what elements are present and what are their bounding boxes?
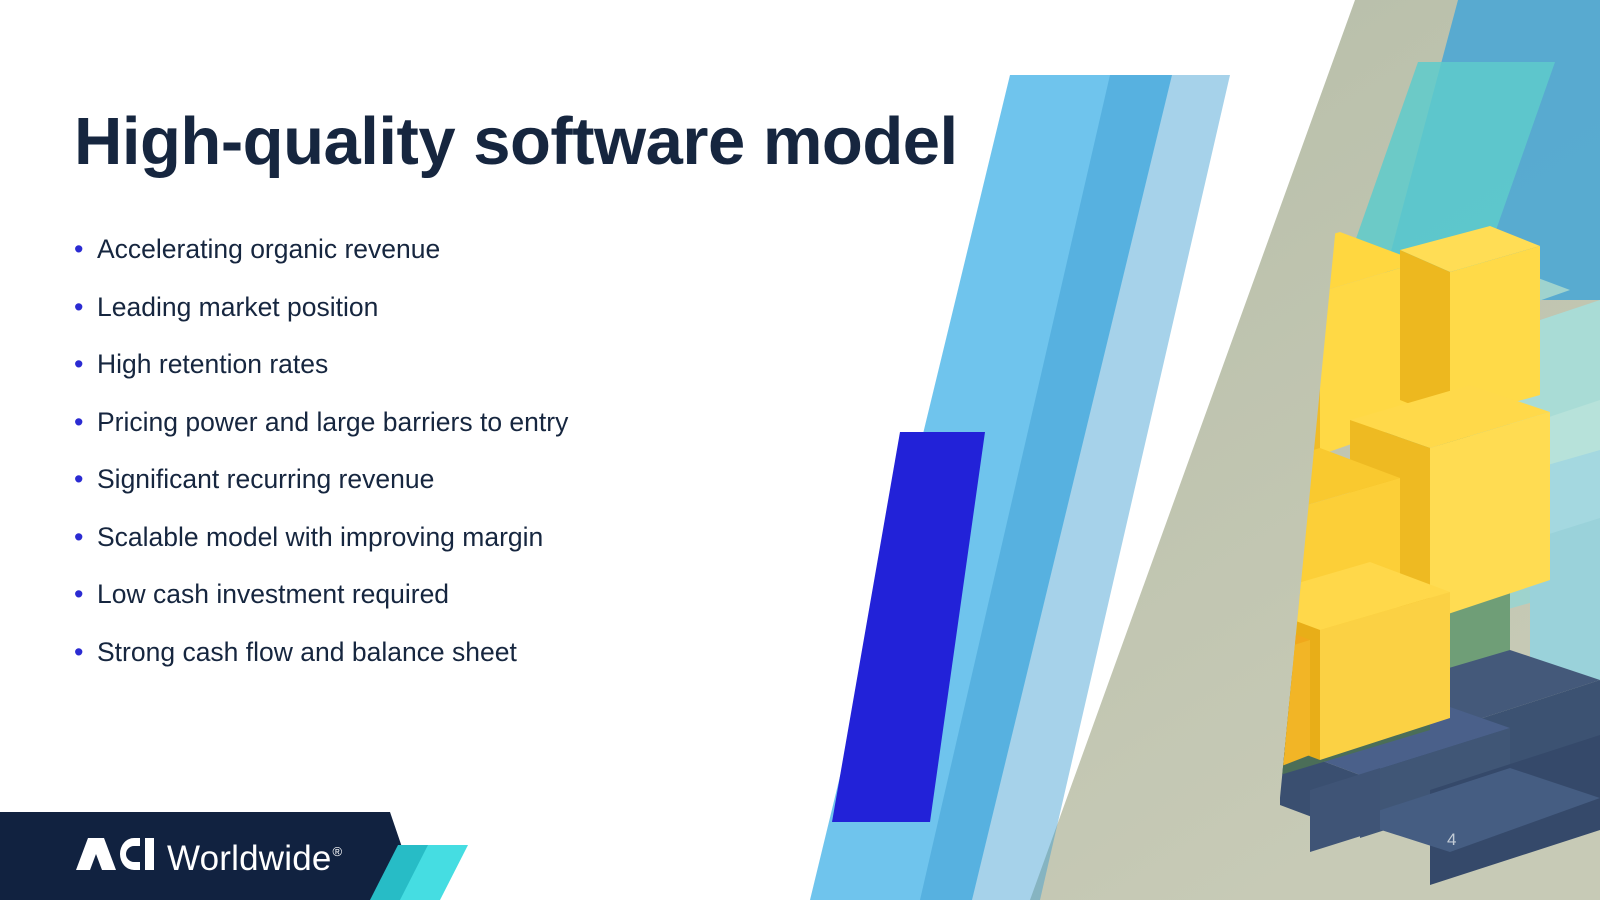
bullet-dot-icon: • [70,577,97,611]
bullet-item: • Low cash investment required [70,577,830,635]
logo-wordmark: Worldwide [167,841,332,876]
bullet-item: • Strong cash flow and balance sheet [70,635,830,693]
bullet-dot-icon: • [70,405,97,439]
registered-trademark-icon: ® [333,845,343,858]
bullet-list: • Accelerating organic revenue • Leading… [70,232,830,692]
bullet-label: Pricing power and large barriers to entr… [97,405,568,439]
bullet-dot-icon: • [70,520,97,554]
aci-worldwide-logo: Worldwide ® [76,838,341,876]
bullet-label: Leading market position [97,290,378,324]
bullet-label: Low cash investment required [97,577,449,611]
bullet-label: High retention rates [97,347,328,381]
bullet-label: Significant recurring revenue [97,462,434,496]
bullet-dot-icon: • [70,290,97,324]
page-number: 4 [1447,831,1456,848]
bullet-label: Strong cash flow and balance sheet [97,635,517,669]
bullet-item: • Significant recurring revenue [70,462,830,520]
bullet-dot-icon: • [70,347,97,381]
presentation-slide: High-quality software model • Accelerati… [0,0,1600,900]
bullet-label: Scalable model with improving margin [97,520,543,554]
bullet-dot-icon: • [70,232,97,266]
aci-mark-svg [76,838,154,870]
slide-title: High-quality software model [74,103,958,180]
bullet-item: • Scalable model with improving margin [70,520,830,578]
bullet-item: • High retention rates [70,347,830,405]
bullet-label: Accelerating organic revenue [97,232,440,266]
bullet-item: • Pricing power and large barriers to en… [70,405,830,463]
bullet-item: • Accelerating organic revenue [70,232,830,290]
aci-logo-mark-icon [76,838,154,875]
bullet-dot-icon: • [70,635,97,669]
footer-bar: Worldwide ® [0,812,500,900]
bullet-item: • Leading market position [70,290,830,348]
bullet-dot-icon: • [70,462,97,496]
